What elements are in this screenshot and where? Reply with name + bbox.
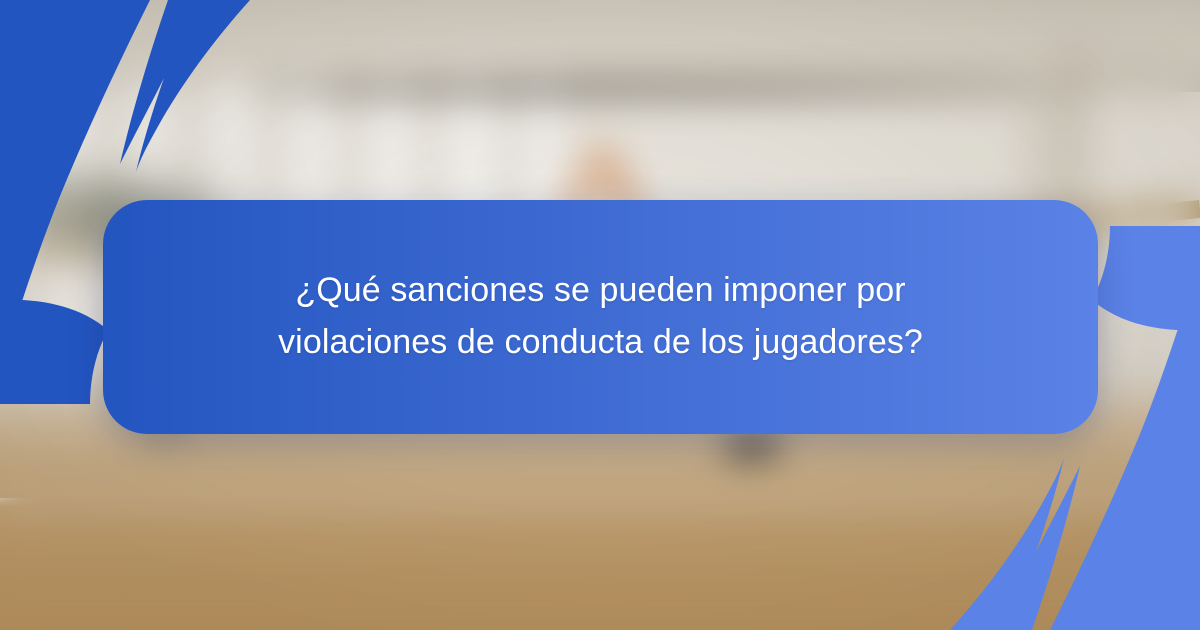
question-card: ¿Qué sanciones se pueden imponer por vio… (103, 200, 1098, 434)
share-card-canvas: ¿Qué sanciones se pueden imponer por vio… (0, 0, 1200, 630)
question-text: ¿Qué sanciones se pueden imponer por vio… (251, 265, 951, 368)
